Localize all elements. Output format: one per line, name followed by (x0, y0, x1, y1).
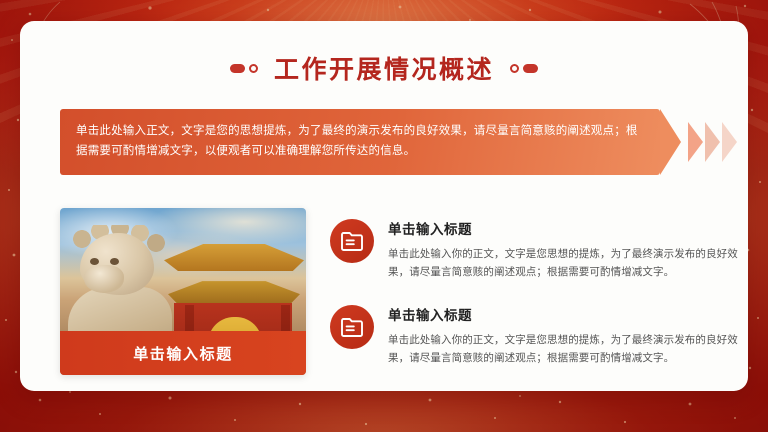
list-item[interactable]: 单击输入标题 单击此处输入你的正文，文字是您思想的提炼，为了最终演示发布的良好效… (330, 303, 742, 367)
list-item-body: 单击输入标题 单击此处输入你的正文，文字是您思想的提炼，为了最终演示发布的良好效… (388, 217, 742, 281)
list-item-description: 单击此处输入你的正文，文字是您思想的提炼，为了最终演示发布的良好效果，请尽量言简… (388, 245, 742, 281)
summary-banner: 单击此处输入正文，文字是您的思想提炼，为了最终的演示发布的良好效果，请尽量言简意… (60, 109, 748, 175)
photo-block: 单击输入标题 (60, 208, 306, 375)
photo-caption-bar: 单击输入标题 (60, 331, 306, 375)
folder-icon (330, 305, 374, 349)
chevron-right-icon (722, 122, 737, 162)
chevron-right-icon (705, 122, 720, 162)
feature-list: 单击输入标题 单击此处输入你的正文，文字是您思想的提炼，为了最终演示发布的良好效… (330, 217, 742, 367)
content-card: 工作开展情况概述 单击此处输入正文，文字是您的思想提炼，为了最终的演示发布的良好… (20, 21, 748, 391)
banner-chevron-group (688, 122, 737, 162)
list-item-title: 单击输入标题 (388, 218, 742, 238)
list-item-body: 单击输入标题 单击此处输入你的正文，文字是您思想的提炼，为了最终演示发布的良好效… (388, 303, 742, 367)
list-item-title: 单击输入标题 (388, 304, 742, 324)
summary-banner-box: 单击此处输入正文，文字是您的思想提炼，为了最终的演示发布的良好效果，请尽量言简意… (60, 109, 660, 175)
title-left-decoration-icon (230, 64, 258, 73)
title-right-decoration-icon (510, 64, 538, 73)
chevron-right-icon (688, 122, 703, 162)
title-row: 工作开展情况概述 (20, 50, 748, 86)
photo-caption-text: 单击输入标题 (133, 343, 233, 364)
list-item-description: 单击此处输入你的正文，文字是您思想的提炼，为了最终演示发布的良好效果，请尽量言简… (388, 331, 742, 367)
page-title: 工作开展情况概述 (274, 50, 494, 86)
folder-icon (330, 219, 374, 263)
summary-banner-text: 单击此处输入正文，文字是您的思想提炼，为了最终的演示发布的良好效果，请尽量言简意… (76, 122, 642, 162)
list-item[interactable]: 单击输入标题 单击此处输入你的正文，文字是您思想的提炼，为了最终演示发布的良好效… (330, 217, 742, 281)
